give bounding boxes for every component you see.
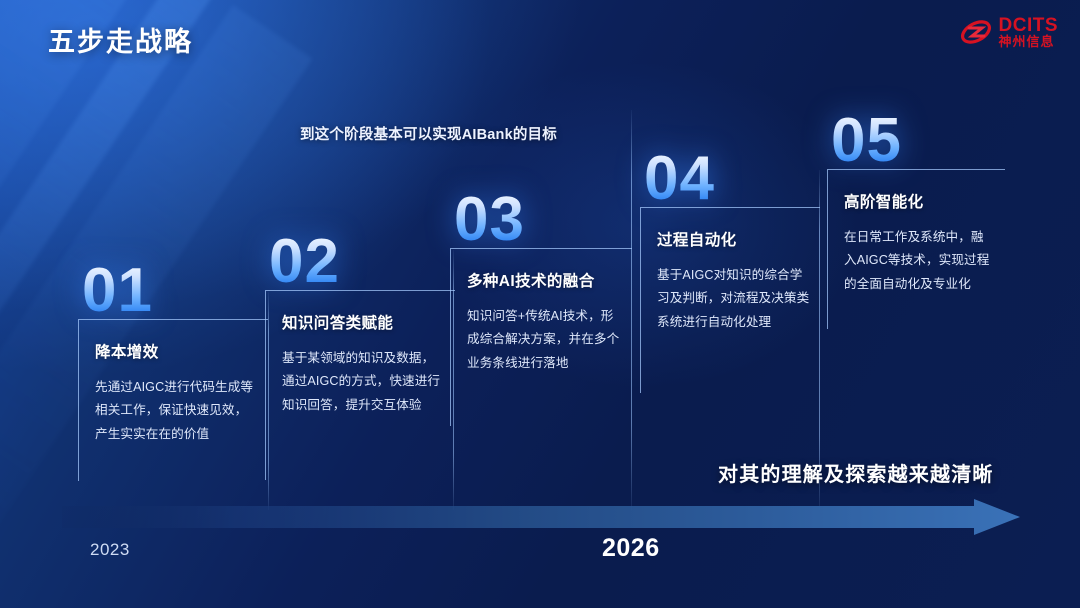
step-body: 在日常工作及系统中，融入AIGC等技术，实现过程的全面自动化及专业化	[844, 226, 995, 296]
step-card: 高阶智能化 在日常工作及系统中，融入AIGC等技术，实现过程的全面自动化及专业化	[827, 169, 1005, 329]
step-02: 02 知识问答类赋能 基于某领域的知识及数据，通过AIGC的方式，快速进行知识回…	[265, 233, 455, 480]
step-number: 02	[269, 233, 455, 290]
bottom-caption: 对其的理解及探索越来越清晰	[718, 458, 994, 487]
aibank-annotation: 到这个阶段基本可以实现AIBank的目标	[300, 123, 557, 144]
step-number: 04	[644, 150, 820, 207]
logo-wordmark: DCITS 神州信息	[999, 16, 1059, 49]
slide-canvas: 五步走战略 DCITS 神州信息 到这个阶段基本可以实现AIBank的目标 01…	[0, 0, 1080, 608]
step-03: 03 多种AI技术的融合 知识问答+传统AI技术，形成综合解决方案，并在多个业务…	[450, 191, 632, 426]
page-title: 五步走战略	[48, 20, 193, 59]
timeline-end-year: 2026	[602, 534, 660, 563]
step-number: 01	[82, 262, 268, 319]
step-body: 基于AIGC对知识的综合学习及判断，对流程及决策类系统进行自动化处理	[657, 264, 810, 334]
timeline-arrow	[62, 499, 1020, 535]
step-04: 04 过程自动化 基于AIGC对知识的综合学习及判断，对流程及决策类系统进行自动…	[640, 150, 820, 393]
logo-cn-text: 神州信息	[999, 35, 1059, 48]
step-card: 过程自动化 基于AIGC对知识的综合学习及判断，对流程及决策类系统进行自动化处理	[640, 207, 820, 393]
step-01: 01 降本增效 先通过AIGC进行代码生成等相关工作，保证快速见效，产生实实在在…	[78, 262, 268, 481]
brand-logo: DCITS 神州信息	[960, 16, 1059, 49]
step-05: 05 高阶智能化 在日常工作及系统中，融入AIGC等技术，实现过程的全面自动化及…	[827, 112, 1005, 329]
step-title: 多种AI技术的融合	[467, 269, 622, 291]
dcits-swirl-icon	[960, 17, 992, 47]
step-body: 知识问答+传统AI技术，形成综合解决方案，并在多个业务条线进行落地	[467, 305, 622, 375]
logo-en-text: DCITS	[999, 16, 1059, 35]
stripe-2	[0, 0, 12, 602]
timeline-start-year: 2023	[90, 540, 130, 560]
step-number: 03	[454, 191, 632, 248]
step-title: 高阶智能化	[844, 190, 995, 212]
step-title: 过程自动化	[657, 228, 810, 250]
step-body: 基于某领域的知识及数据，通过AIGC的方式，快速进行知识回答，提升交互体验	[282, 347, 445, 417]
step-number: 05	[831, 112, 1005, 169]
step-card: 多种AI技术的融合 知识问答+传统AI技术，形成综合解决方案，并在多个业务条线进…	[450, 248, 632, 426]
step-body: 先通过AIGC进行代码生成等相关工作，保证快速见效，产生实实在在的价值	[95, 376, 258, 446]
step-title: 知识问答类赋能	[282, 311, 445, 333]
step-card: 知识问答类赋能 基于某领域的知识及数据，通过AIGC的方式，快速进行知识回答，提…	[265, 290, 455, 480]
step-card: 降本增效 先通过AIGC进行代码生成等相关工作，保证快速见效，产生实实在在的价值	[78, 319, 268, 481]
step-title: 降本增效	[95, 340, 258, 362]
